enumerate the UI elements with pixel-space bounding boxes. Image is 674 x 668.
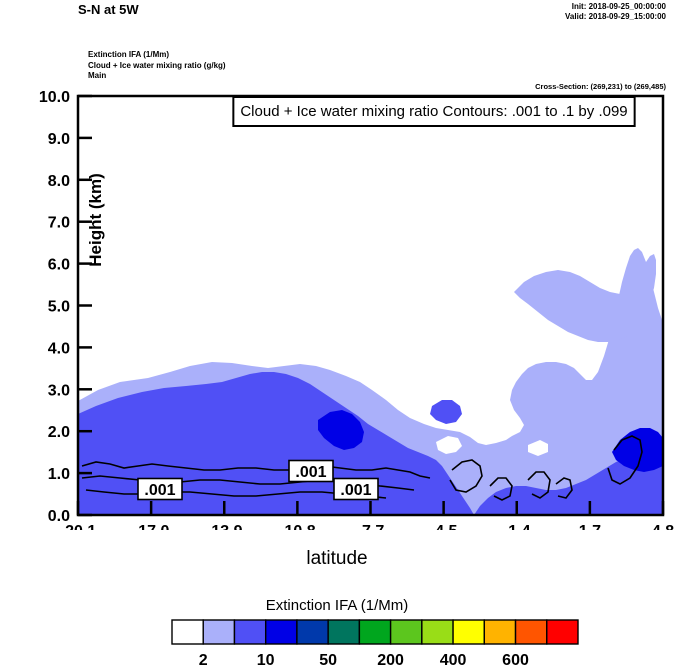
x-tick-label: -13.9: [206, 523, 243, 530]
colorbar: 21050200400600: [0, 616, 674, 668]
x-axis-label: latitude: [0, 548, 674, 570]
colorbar-cell-0: [172, 620, 203, 644]
y-tick-label: 5.0: [48, 299, 70, 316]
colorbar-cell-10: [484, 620, 515, 644]
colorbar-cell-9: [453, 620, 484, 644]
x-tick-label: -1.4: [503, 523, 531, 530]
y-tick-label: 3.0: [48, 382, 70, 399]
contour-label-text: .001: [340, 482, 371, 499]
y-tick-label: 8.0: [48, 173, 70, 190]
contour-label-text: .001: [144, 482, 175, 499]
colorbar-svg: 21050200400600: [0, 616, 674, 668]
y-axis-label: Height (km): [86, 120, 106, 320]
colorbar-tick-labels: 21050200400600: [199, 652, 529, 668]
colorbar-cell-1: [203, 620, 234, 644]
colorbar-tick-label: 200: [377, 652, 404, 668]
x-tick-label: -7.7: [357, 523, 385, 530]
colorbar-cell-6: [359, 620, 390, 644]
y-tick-label: 4.0: [48, 340, 70, 357]
contour-banner: Cloud + Ice water mixing ratio Contours:…: [233, 97, 634, 126]
x-tick-label: -17.0: [133, 523, 170, 530]
colorbar-tick-label: 600: [502, 652, 529, 668]
x-tick-label: -20.1: [60, 523, 97, 530]
y-tick-label: 6.0: [48, 257, 70, 274]
colorbar-tick-label: 400: [440, 652, 467, 668]
contour-label-text: .001: [295, 464, 326, 481]
colorbar-cell-11: [516, 620, 547, 644]
colorbar-tick-label: 50: [319, 652, 337, 668]
colorbar-tick-label: 2: [199, 652, 208, 668]
y-tick-label: 10.0: [39, 89, 70, 106]
x-tick-label: -10.8: [279, 523, 316, 530]
colorbar-cell-5: [328, 620, 359, 644]
colorbar-cell-4: [297, 620, 328, 644]
colorbar-tick-label: 10: [257, 652, 275, 668]
colorbar-cells: [172, 620, 578, 644]
colorbar-cell-8: [422, 620, 453, 644]
x-tick-label: -4.5: [430, 523, 458, 530]
x-tick-label: 4.8: [652, 523, 674, 530]
contour-banner-text: Cloud + Ice water mixing ratio Contours:…: [240, 103, 627, 120]
colorbar-cell-3: [266, 620, 297, 644]
colorbar-cell-12: [547, 620, 578, 644]
y-tick-label: 9.0: [48, 131, 70, 148]
y-tick-label: 2.0: [48, 424, 70, 441]
colorbar-cell-7: [391, 620, 422, 644]
colorbar-cell-2: [234, 620, 265, 644]
x-tick-label: 1.7: [579, 523, 601, 530]
colorbar-title: Extinction IFA (1/Mm): [0, 597, 674, 614]
y-tick-label: 1.0: [48, 466, 70, 483]
y-tick-label: 7.0: [48, 215, 70, 232]
